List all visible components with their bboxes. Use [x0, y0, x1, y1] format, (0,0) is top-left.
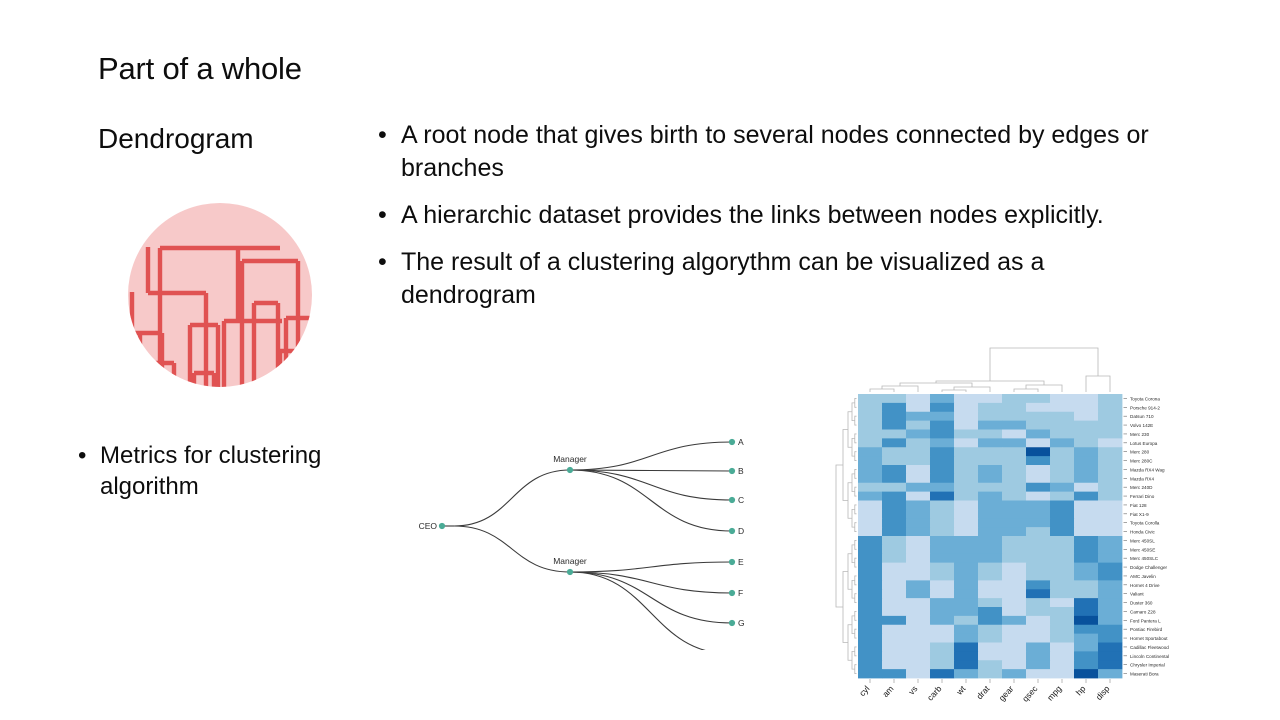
- tree-edge: [570, 562, 732, 572]
- heatmap-row-label: Porsche 914-2: [1130, 405, 1160, 410]
- heatmap-cell: [1098, 394, 1122, 403]
- tree-edge: [570, 442, 732, 470]
- heatmap-cell: [1098, 545, 1122, 554]
- heatmap-cell: [858, 598, 882, 607]
- heatmap-cell: [882, 651, 906, 660]
- heatmap-cell: [1074, 625, 1098, 634]
- heatmap-cell: [1098, 403, 1122, 412]
- heatmap-cell: [1026, 651, 1050, 660]
- dendrogram-link: [852, 474, 855, 492]
- heatmap-cell: [1002, 545, 1026, 554]
- dendrogram-link: [855, 594, 857, 603]
- heatmap-cell: [954, 421, 978, 430]
- heatmap-column-label: disp: [1094, 683, 1112, 701]
- heatmap-cell: [882, 580, 906, 589]
- heatmap-cell: [1050, 607, 1074, 616]
- heatmap-cell: [1002, 598, 1026, 607]
- heatmap-column-label: carb: [925, 683, 944, 702]
- heatmap-cell: [1050, 580, 1074, 589]
- dendrogram-link: [843, 572, 848, 643]
- heatmap-cell: [978, 483, 1002, 492]
- heatmap-cell: [1074, 501, 1098, 510]
- heatmap-cell: [1050, 589, 1074, 598]
- heatmap-cell: [882, 501, 906, 510]
- heatmap-cell: [1098, 509, 1122, 518]
- heatmap-cell: [1026, 607, 1050, 616]
- heatmap-cell: [954, 465, 978, 474]
- heatmap-column-label: cyl: [857, 684, 871, 698]
- heatmap-cell: [906, 643, 930, 652]
- heatmap-cell: [1026, 430, 1050, 439]
- dendrogram-link: [843, 430, 848, 501]
- heatmap-cell: [906, 430, 930, 439]
- heatmap-cell: [1026, 501, 1050, 510]
- tree-edge: [570, 572, 732, 650]
- heatmap-row-label: Merc 280C: [1130, 459, 1153, 464]
- heatmap-cell: [954, 492, 978, 501]
- heatmap-cell: [1026, 509, 1050, 518]
- heatmap-cell: [1002, 660, 1026, 669]
- heatmap-cell: [1002, 412, 1026, 421]
- dendrogram-link: [855, 629, 857, 638]
- page-title: Part of a whole: [98, 50, 302, 88]
- heatmap-cell: [1050, 651, 1074, 660]
- heatmap-row-label: Fiat 128: [1130, 503, 1147, 508]
- heatmap-cell: [1074, 394, 1098, 403]
- tree-labels: CEOManagerManagerABCDEFGH: [419, 437, 745, 650]
- bullet-text: A hierarchic dataset provides the links …: [401, 199, 1178, 232]
- heatmap-cell: [1026, 643, 1050, 652]
- heatmap-cell: [954, 563, 978, 572]
- heatmap-cell: [906, 669, 930, 678]
- heatmap-cell: [930, 483, 954, 492]
- heatmap-cell: [954, 438, 978, 447]
- heatmap-cell: [1026, 598, 1050, 607]
- heatmap-cell: [930, 456, 954, 465]
- section-subtitle: Dendrogram: [98, 121, 254, 157]
- heatmap-cell: [1026, 518, 1050, 527]
- heatmap-cell: [858, 456, 882, 465]
- heatmap-cell: [930, 616, 954, 625]
- heatmap-cell: [1050, 456, 1074, 465]
- tree-node-leaf[interactable]: [729, 497, 735, 503]
- heatmap-cell: [1002, 589, 1026, 598]
- heatmap-cell: [906, 509, 930, 518]
- heatmap-cell: [1026, 660, 1050, 669]
- heatmap-cell: [930, 563, 954, 572]
- heatmap-cell: [1050, 625, 1074, 634]
- heatmap-cell: [930, 634, 954, 643]
- dendrogram-link: [848, 412, 852, 448]
- heatmap-cell: [858, 572, 882, 581]
- heatmap-cell: [1026, 474, 1050, 483]
- bullet-item-3: • The result of a clustering algorythm c…: [378, 246, 1178, 312]
- heatmap-cell: [1098, 527, 1122, 536]
- heatmap-cell: [882, 474, 906, 483]
- heatmap-cell: [1002, 580, 1026, 589]
- heatmap-cell: [1098, 563, 1122, 572]
- heatmap-cell: [906, 536, 930, 545]
- heatmap-cell: [1050, 572, 1074, 581]
- heatmap-cell: [1002, 465, 1026, 474]
- heatmap-cell: [858, 536, 882, 545]
- heatmap-cell: [1050, 563, 1074, 572]
- heatmap-cell: [1074, 580, 1098, 589]
- dendrogram-link: [855, 665, 857, 674]
- heatmap-cell: [906, 651, 930, 660]
- heatmap-cell: [1026, 554, 1050, 563]
- dendrogram-link: [870, 389, 894, 392]
- tree-node-leaf[interactable]: [729, 559, 735, 565]
- heatmap-cell: [1026, 447, 1050, 456]
- heatmap-cell: [1050, 483, 1074, 492]
- heatmap-row-label: Hornet 4 Drive: [1130, 583, 1160, 588]
- heatmap-cell: [1098, 465, 1122, 474]
- heatmap-cell: [954, 474, 978, 483]
- heatmap-cell: [1098, 572, 1122, 581]
- heatmap-cell: [1026, 669, 1050, 678]
- heatmap-cell: [1098, 660, 1122, 669]
- heatmap-cell: [1026, 527, 1050, 536]
- dendrogram-link: [855, 452, 857, 461]
- heatmap-cell: [1098, 501, 1122, 510]
- heatmap-cell: [1050, 598, 1074, 607]
- heatmap-cell: [882, 643, 906, 652]
- heatmap-cell: [1002, 572, 1026, 581]
- dendrogram-link: [852, 509, 855, 527]
- heatmap-cell: [1050, 536, 1074, 545]
- heatmap-cell: [1050, 403, 1074, 412]
- heatmap-cell: [954, 634, 978, 643]
- heatmap-cell: [1050, 660, 1074, 669]
- heatmap-cell: [1050, 465, 1074, 474]
- heatmap-cell: [1050, 527, 1074, 536]
- dendrogram-link: [855, 398, 857, 407]
- heatmap-cell: [954, 643, 978, 652]
- heatmap-cell: [906, 563, 930, 572]
- heatmap-cell: [1074, 483, 1098, 492]
- heatmap-cell: [906, 501, 930, 510]
- tree-node-leaf[interactable]: [729, 439, 735, 445]
- heatmap-row-label: Merc 450SLC: [1130, 556, 1159, 561]
- heatmap-cell: [1074, 412, 1098, 421]
- heatmap-cell: [930, 660, 954, 669]
- heatmap-cell: [882, 625, 906, 634]
- heatmap-cell: [978, 625, 1002, 634]
- heatmap-cell: [978, 554, 1002, 563]
- heatmap-cell: [858, 509, 882, 518]
- heatmap-cell: [858, 554, 882, 563]
- dendrogram-link: [855, 469, 857, 478]
- tree-node-leaf[interactable]: [729, 620, 735, 626]
- heatmap-cell: [882, 465, 906, 474]
- heatmap-cell: [1026, 545, 1050, 554]
- heatmap-cell: [858, 483, 882, 492]
- heatmap-cell: [978, 509, 1002, 518]
- heatmap-cell: [1098, 456, 1122, 465]
- heatmap-cell: [978, 421, 1002, 430]
- heatmap-row-label: Toyota Corolla: [1130, 521, 1160, 526]
- heatmap-cell: [1074, 430, 1098, 439]
- heatmap-cell: [1002, 509, 1026, 518]
- heatmap-cell: [882, 607, 906, 616]
- heatmap-row-label: Pontiac Firebird: [1130, 627, 1163, 632]
- heatmap-row-label: Merc 240D: [1130, 485, 1153, 490]
- heatmap-row-label: Volvo 142E: [1130, 423, 1153, 428]
- dendrogram-link: [855, 505, 857, 514]
- heatmap-cell: [1050, 509, 1074, 518]
- heatmap-cell: [1002, 403, 1026, 412]
- tree-leaf-label: C: [738, 495, 744, 505]
- heatmap-cell: [930, 518, 954, 527]
- heatmap-cell: [882, 598, 906, 607]
- heatmap-cell: [1074, 536, 1098, 545]
- heatmap-cell: [882, 518, 906, 527]
- heatmap-cell: [858, 563, 882, 572]
- heatmap-cell: [930, 580, 954, 589]
- heatmap-cell: [1026, 421, 1050, 430]
- tree-edge: [454, 470, 570, 526]
- heatmap-cell: [1026, 589, 1050, 598]
- heatmap-cell: [882, 616, 906, 625]
- heatmap-cell: [1098, 643, 1122, 652]
- heatmap-row-label: Honda Civic: [1130, 530, 1155, 535]
- heatmap-cell: [954, 580, 978, 589]
- heatmap-cell: [906, 616, 930, 625]
- heatmap-cell: [906, 492, 930, 501]
- dendrogram-link: [852, 438, 855, 456]
- heatmap-cell: [978, 536, 1002, 545]
- heatmap-column-label: hp: [1074, 683, 1088, 697]
- heatmap-cell: [954, 483, 978, 492]
- heatmap-cell: [954, 607, 978, 616]
- heatmap-cell: [858, 643, 882, 652]
- heatmap-cell: [1098, 554, 1122, 563]
- bullet-text: A root node that gives birth to several …: [401, 119, 1178, 185]
- heatmap-column-label: gear: [997, 684, 1016, 703]
- heatmap-cell: [1074, 403, 1098, 412]
- tree-node-leaf[interactable]: [729, 468, 735, 474]
- heatmap-cell: [906, 421, 930, 430]
- heatmap-cell: [1098, 438, 1122, 447]
- heatmap-cell: [978, 545, 1002, 554]
- heatmap-cell: [1002, 563, 1026, 572]
- heatmap-cell: [1074, 527, 1098, 536]
- heatmap-cell: [930, 554, 954, 563]
- heatmap-cell: [882, 403, 906, 412]
- heatmap-cell: [954, 501, 978, 510]
- heatmap-cell: [954, 518, 978, 527]
- heatmap-column-label: mpg: [1045, 683, 1064, 702]
- heatmap-cell: [1002, 634, 1026, 643]
- heatmap-row-label: Lotus Europa: [1130, 441, 1158, 446]
- heatmap-cell: [882, 483, 906, 492]
- heatmap-cell: [1002, 501, 1026, 510]
- heatmap-cell: [978, 616, 1002, 625]
- tree-leaf-label: A: [738, 437, 744, 447]
- tree-node-internal[interactable]: [567, 569, 573, 575]
- heatmap-cell: [1002, 536, 1026, 545]
- heatmap-cell: [1026, 456, 1050, 465]
- heatmap-cell: [1074, 554, 1098, 563]
- heatmap-cell: [906, 474, 930, 483]
- heatmap-cell: [978, 598, 1002, 607]
- heatmap-cell: [1098, 589, 1122, 598]
- heatmap-cell: [858, 430, 882, 439]
- heatmap-cell: [858, 616, 882, 625]
- heatmap-cell: [978, 634, 1002, 643]
- heatmap-cell: [906, 625, 930, 634]
- tree-node-leaf[interactable]: [729, 590, 735, 596]
- heatmap-column-label: am: [880, 684, 895, 699]
- heatmap-cell: [1026, 483, 1050, 492]
- heatmap-cell: [1002, 456, 1026, 465]
- heatmap-cell: [882, 421, 906, 430]
- heatmap-cell: [1098, 625, 1122, 634]
- heatmap-cell: [1074, 651, 1098, 660]
- dendrogram-link: [855, 416, 857, 425]
- heatmap-row-label: Valiant: [1130, 592, 1144, 597]
- dendrogram-link: [1026, 385, 1062, 392]
- dendrogram-link: [836, 465, 843, 607]
- heatmap-cell: [978, 394, 1002, 403]
- heatmap-cell: [1098, 536, 1122, 545]
- heatmap-cell: [978, 430, 1002, 439]
- heatmap-cell: [954, 430, 978, 439]
- heatmap-cell: [882, 430, 906, 439]
- heatmap-cell: [906, 607, 930, 616]
- heatmap-cell: [882, 669, 906, 678]
- heatmap-cell: [1050, 634, 1074, 643]
- heatmap-cell: [978, 474, 1002, 483]
- heatmap-cell: [858, 394, 882, 403]
- heatmap-cell: [978, 456, 1002, 465]
- heatmap-cell: [1050, 501, 1074, 510]
- heatmap-cell: [1074, 456, 1098, 465]
- heatmap-cell: [1050, 438, 1074, 447]
- dendrogram-link: [942, 390, 966, 392]
- heatmap-cell: [978, 643, 1002, 652]
- heatmap-cell: [882, 438, 906, 447]
- heatmap-cell: [858, 634, 882, 643]
- heatmap-cell: [1026, 634, 1050, 643]
- heatmap-cell: [1026, 572, 1050, 581]
- heatmap-cell: [930, 509, 954, 518]
- heatmap-cell: [954, 447, 978, 456]
- heatmap-cell: [858, 527, 882, 536]
- heatmap-cell: [954, 536, 978, 545]
- heatmap-cell: [1002, 607, 1026, 616]
- heatmap-cell: [858, 580, 882, 589]
- heatmap-cell: [1026, 438, 1050, 447]
- tree-node-internal[interactable]: [567, 467, 573, 473]
- heatmap-cell: [1026, 563, 1050, 572]
- dendrogram-link: [990, 348, 1098, 381]
- heatmap-cell: [930, 465, 954, 474]
- heatmap-cell: [858, 492, 882, 501]
- tree-node-root[interactable]: [439, 523, 445, 529]
- heatmap-cell: [930, 527, 954, 536]
- heatmap-cell: [1002, 430, 1026, 439]
- heatmap-cell: [1026, 580, 1050, 589]
- heatmap-column-label: drat: [974, 683, 992, 701]
- heatmap-cell: [954, 527, 978, 536]
- heatmap-cell: [906, 394, 930, 403]
- heatmap-cell: [954, 572, 978, 581]
- heatmap-cell: [1002, 518, 1026, 527]
- heatmap-cell: [882, 536, 906, 545]
- heatmap-cell: [930, 589, 954, 598]
- heatmap-cell: [978, 572, 1002, 581]
- heatmap-row-label: Dodge Challenger: [1130, 565, 1168, 570]
- heatmap-cell: [1026, 492, 1050, 501]
- dendrogram-link: [855, 523, 857, 532]
- heatmap-cell: [906, 412, 930, 421]
- heatmap-cell: [858, 465, 882, 474]
- tree-node-leaf[interactable]: [729, 528, 735, 534]
- dendrogram-link: [852, 545, 855, 563]
- heatmap-cell: [1074, 616, 1098, 625]
- heatmap-cell: [906, 527, 930, 536]
- heatmap-row-label: Merc 450SE: [1130, 547, 1155, 552]
- heatmap-cell: [1098, 421, 1122, 430]
- heatmap-cell: [978, 607, 1002, 616]
- heatmap-cell: [882, 527, 906, 536]
- heatmap-cell: [1026, 412, 1050, 421]
- heatmap-cell: [882, 634, 906, 643]
- heatmap-cell: [954, 394, 978, 403]
- heatmap-column-label: wt: [954, 683, 968, 697]
- heatmap-cell: [858, 625, 882, 634]
- heatmap-cell: [882, 394, 906, 403]
- heatmap-cell: [930, 643, 954, 652]
- tree-leaf-label: B: [738, 466, 744, 476]
- tree-leaf-label: G: [738, 618, 745, 628]
- heatmap-cell: [1074, 509, 1098, 518]
- heatmap-cell: [978, 438, 1002, 447]
- dendrogram-circle-icon: [128, 203, 312, 387]
- heatmap-cell: [1074, 545, 1098, 554]
- dendrogram-link: [1086, 376, 1110, 392]
- heatmap-cell: [1074, 660, 1098, 669]
- heatmap-row-label: Camaro Z28: [1130, 609, 1156, 614]
- heatmap-cell: [1074, 438, 1098, 447]
- heatmap-cell: [1074, 572, 1098, 581]
- heatmap-cell: [906, 634, 930, 643]
- heatmap-cell: [954, 412, 978, 421]
- heatmap-row-label: Ford Pantera L: [1130, 618, 1161, 623]
- heatmap-row-label: Mazda RX4: [1130, 476, 1154, 481]
- heatmap-cell: [978, 501, 1002, 510]
- bullet-list: • A root node that gives birth to severa…: [378, 119, 1178, 326]
- heatmap-cell: [978, 580, 1002, 589]
- heatmap-cell: [978, 412, 1002, 421]
- dendrogram-link: [1014, 389, 1038, 392]
- node-link-dendrogram-figure: CEOManagerManagerABCDEFGH: [400, 418, 782, 650]
- heatmap-cell: [1098, 669, 1122, 678]
- heatmap-cell: [1026, 465, 1050, 474]
- heatmap-cell: [978, 465, 1002, 474]
- heatmap-cell: [1002, 554, 1026, 563]
- tree-internal-label: Manager: [553, 454, 587, 464]
- heatmap-cell: [1050, 669, 1074, 678]
- dendrogram-link: [852, 580, 855, 598]
- heatmap-cell: [978, 447, 1002, 456]
- heatmap-cell: [1098, 580, 1122, 589]
- bullet-text: The result of a clustering algorythm can…: [401, 246, 1178, 312]
- tree-root-label: CEO: [419, 521, 438, 531]
- heatmap-cell: [906, 465, 930, 474]
